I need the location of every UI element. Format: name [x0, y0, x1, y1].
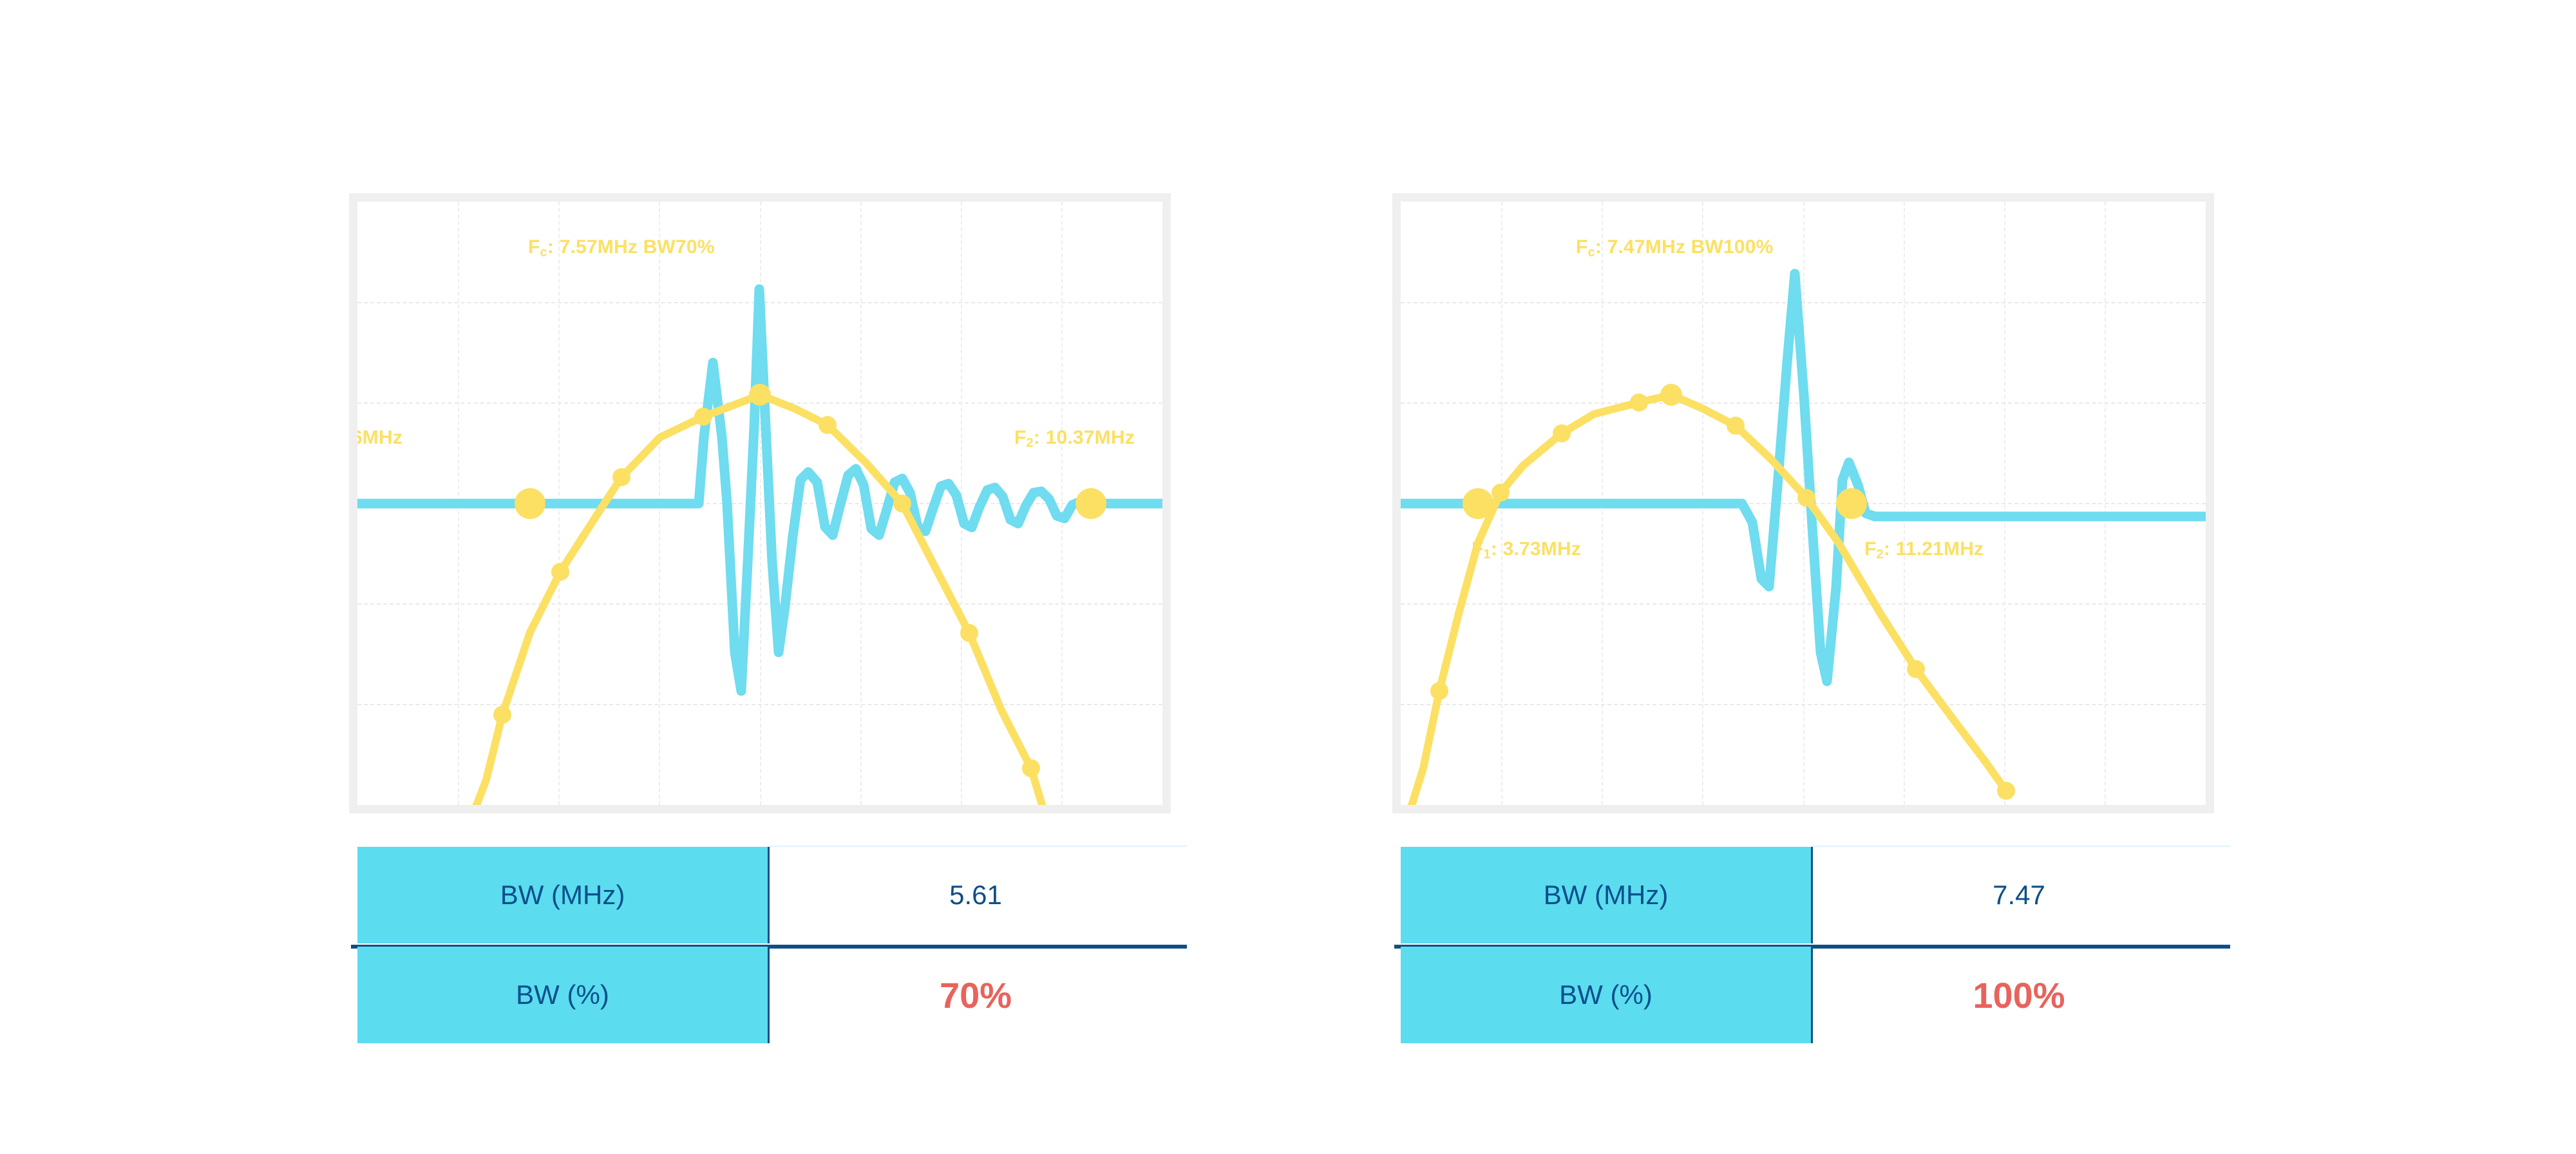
waveform-right — [1401, 274, 2206, 681]
bw-mhz-label-right: BW (MHz) — [1401, 847, 1813, 943]
annotation-lower-cutoff-right: F1: 3.73MHz — [1472, 540, 1581, 561]
spectrum-markers-right — [1430, 384, 2015, 800]
annotation-center-frequency-left: Fc: 7.57MHz BW70% — [528, 238, 715, 259]
panel-right: Fc: 7.47MHz BW100% F1: 3.73MHz F2: 11.21… — [1043, 0, 2331, 1154]
plot-area-right: Fc: 7.47MHz BW100% F1: 3.73MHz F2: 11.21… — [1401, 202, 2206, 805]
table-row: BW (MHz) 7.47 — [1401, 847, 2225, 943]
plot-curves-right — [1401, 202, 2206, 805]
table-row: BW (%) 100% — [1401, 947, 2225, 1043]
annotation-upper-cutoff-right: F2: 11.21MHz — [1864, 540, 1984, 561]
plot-area-left: Fc: 7.57MHz BW70% F1: 4.76MHz F2: 10.37M… — [357, 202, 1162, 805]
bw-percent-label-left: BW (%) — [357, 947, 770, 1043]
bw-mhz-value-right: 7.47 — [1813, 847, 2225, 943]
annotation-center-frequency-right: Fc: 7.47MHz BW100% — [1576, 238, 1773, 259]
plot-curves-left — [357, 202, 1162, 805]
bw-percent-value-right: 100% — [1813, 947, 2225, 1043]
spectrum-curve-left — [471, 395, 1046, 805]
bw-percent-label-right: BW (%) — [1401, 947, 1813, 1043]
waveform-left — [357, 289, 1162, 691]
annotation-lower-cutoff-left: F1: 4.76MHz — [357, 428, 402, 449]
figure-root: Fc: 7.57MHz BW70% F1: 4.76MHz F2: 10.37M… — [0, 0, 2576, 1154]
spectrum-curve-right — [1407, 395, 2006, 805]
bandwidth-table-right: BW (MHz) 7.47 BW (%) 100% — [1401, 847, 2225, 1043]
bw-mhz-label-left: BW (MHz) — [357, 847, 770, 943]
